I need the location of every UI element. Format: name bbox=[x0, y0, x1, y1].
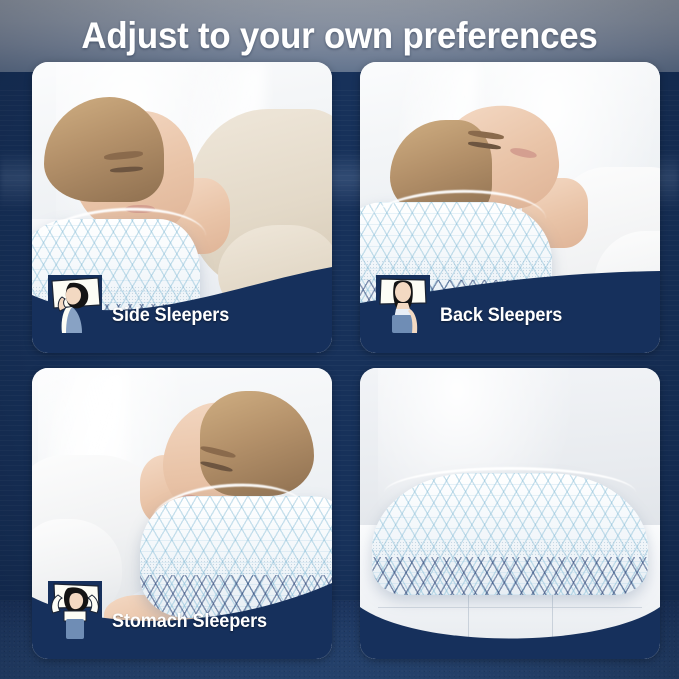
promo-image: Adjust to your own preferences bbox=[0, 0, 679, 679]
badge-label-stomach-sleepers: Stomach Sleepers bbox=[112, 611, 267, 633]
pillow-gusset bbox=[372, 557, 648, 595]
badge-label-back-sleepers: Back Sleepers bbox=[440, 305, 562, 327]
panel-back-sleepers[interactable]: Back Sleepers bbox=[360, 62, 660, 353]
back-sleeper-icon-svg bbox=[376, 275, 430, 333]
pillow-mesh bbox=[372, 541, 648, 557]
banner-shape bbox=[360, 605, 660, 659]
banner-pillow-product bbox=[360, 605, 660, 659]
panel-stomach-sleepers[interactable]: Stomach Sleepers bbox=[32, 368, 332, 659]
stomach-sleeper-icon-svg bbox=[48, 581, 102, 639]
page-title: Adjust to your own preferences bbox=[20, 14, 658, 58]
stomach-sleeper-icon bbox=[48, 581, 102, 639]
side-sleeper-icon-svg bbox=[48, 275, 102, 333]
back-sleeper-icon bbox=[376, 275, 430, 333]
panel-side-sleepers[interactable]: Side Sleepers bbox=[32, 62, 332, 353]
badge-label-side-sleepers: Side Sleepers bbox=[112, 305, 229, 327]
pillow-piping bbox=[384, 467, 636, 519]
panel-pillow-product[interactable] bbox=[360, 368, 660, 659]
panel-grid: Side Sleepers bbox=[32, 62, 660, 659]
side-sleeper-icon bbox=[48, 275, 102, 333]
